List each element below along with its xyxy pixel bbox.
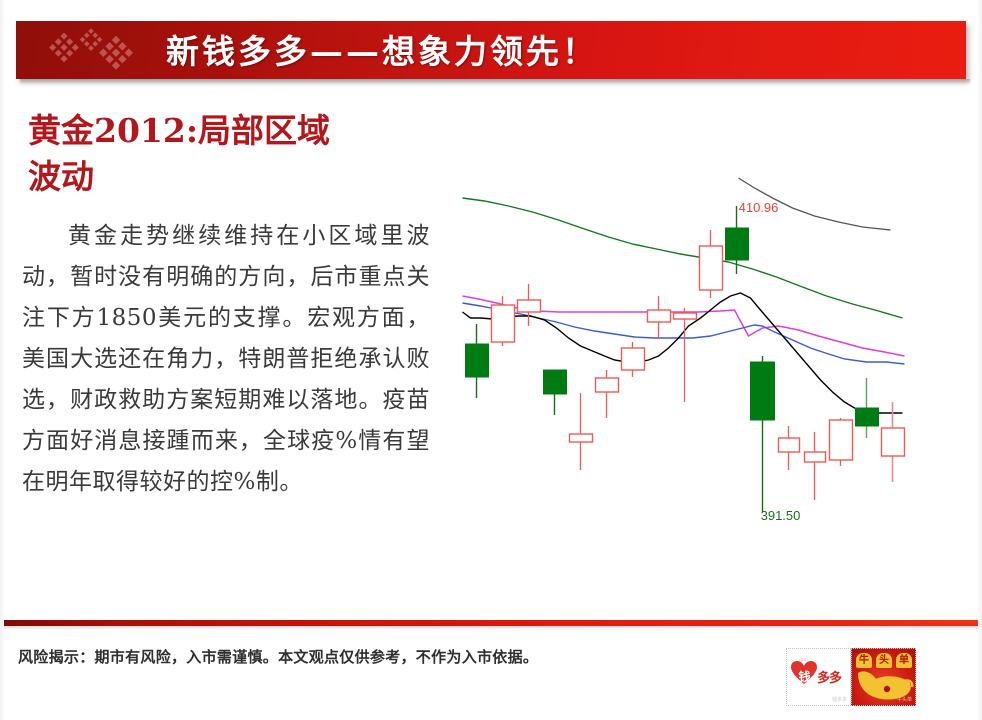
body-text: 黄金走势继续维持在小区域里波动，暂时没有明确的方向，后市重点关注下方1850美元… <box>22 216 430 503</box>
logo-niutoudan-char-1: 头 <box>876 653 892 668</box>
candle-9 <box>700 230 723 298</box>
logo-qianduoduo-corner-mark: 钱多多 <box>832 696 847 703</box>
slide-right-edge <box>977 0 982 720</box>
footer-logos: QDD 钱 多多 钱多多 牛 头 单 牛头单 <box>786 648 916 708</box>
page-title-line-1: 黄金2012:局部区域 <box>28 108 428 154</box>
logo-niutoudan-chars: 牛 头 单 <box>854 652 914 668</box>
logo-niutoudan-char-0: 牛 <box>856 653 872 668</box>
candle-7 <box>648 296 671 338</box>
candle-15 <box>856 378 879 438</box>
logo-niutoudan[interactable]: 牛 头 单 牛头单 <box>851 648 916 706</box>
candle-14 <box>830 418 853 466</box>
candle-6 <box>622 342 645 377</box>
logo-qianduoduo[interactable]: QDD 钱 多多 钱多多 <box>786 648 851 706</box>
period-low-label: 391.50 <box>761 508 801 523</box>
slide-left-edge <box>0 0 5 720</box>
banner-bar: 新钱多多——想象力领先！ <box>16 21 966 79</box>
footer-divider-shadow <box>4 626 978 630</box>
candlestick-chart: 410.96 391.50 <box>420 170 975 550</box>
candle-5 <box>596 370 619 418</box>
candle-8 <box>674 308 697 402</box>
page-title: 黄金2012:局部区域 波动 <box>28 108 428 200</box>
logo-qianduoduo-side-text: 多多 <box>817 667 841 686</box>
candle-16 <box>882 402 905 482</box>
banner-drop-shadow <box>20 79 970 84</box>
body-paragraph: 黄金走势继续维持在小区域里波动，暂时没有明确的方向，后市重点关注下方1850美元… <box>22 216 430 503</box>
slide-root: 新钱多多——想象力领先！ 黄金2012:局部区域 波动 黄金走势继续维持在小区域… <box>0 0 982 720</box>
banner-title: 新钱多多——想象力领先！ <box>166 25 598 73</box>
logo-qianduoduo-heart-text: 钱 <box>796 668 813 685</box>
risk-disclaimer: 风险揭示：期市有风险，入市需谨慎。本文观点仅供参考，不作为入市依据。 <box>18 646 758 667</box>
candlestick-chart-svg: 410.96 391.50 <box>420 170 975 550</box>
candle-13 <box>805 432 826 500</box>
logo-niutoudan-corner-mark: 牛头单 <box>897 696 912 703</box>
candle-12 <box>779 426 800 470</box>
candle-1 <box>492 296 515 346</box>
logo-niutoudan-char-2: 单 <box>896 653 912 668</box>
candle-4 <box>570 393 593 470</box>
logo-qianduoduo-tiny-text: QDD <box>799 657 808 662</box>
header-banner: 新钱多多——想象力领先！ <box>16 21 966 83</box>
candle-2 <box>518 284 541 326</box>
page-title-line-2: 波动 <box>28 154 428 200</box>
candle-11 <box>751 356 775 512</box>
period-high-label: 410.96 <box>739 200 779 215</box>
candle-10 <box>726 206 749 274</box>
candle-0 <box>466 324 489 398</box>
diamond-lattice-ornament-icon <box>34 25 154 77</box>
candle-3 <box>544 370 567 415</box>
